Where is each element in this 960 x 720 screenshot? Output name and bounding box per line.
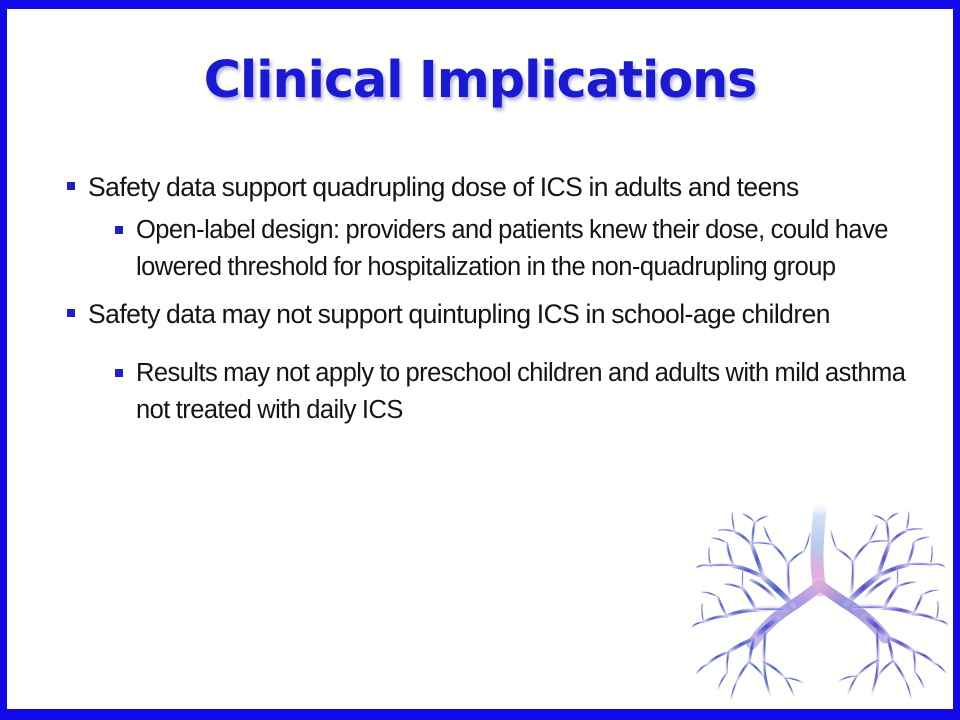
bullet-item-level1: Safety data may not support quintupling … bbox=[58, 295, 906, 333]
bullet-text: Results may not apply to preschool child… bbox=[136, 359, 905, 424]
bullet-square-icon bbox=[115, 369, 123, 377]
slide-border-bottom bbox=[0, 709, 960, 720]
bullet-text: Safety data may not support quintupling … bbox=[88, 299, 830, 329]
bullet-list: Safety data support quadrupling dose of … bbox=[58, 168, 906, 429]
bullet-square-icon bbox=[67, 309, 75, 317]
slide-border-left bbox=[0, 0, 7, 720]
bronchial-tree-lungs-icon bbox=[690, 498, 958, 710]
slide-title: Clinical Implications bbox=[0, 52, 960, 110]
slide-canvas: Clinical Implications Safety data suppor… bbox=[0, 0, 960, 720]
bullet-square-icon bbox=[115, 226, 123, 234]
bullet-item-level1: Safety data support quadrupling dose of … bbox=[58, 168, 906, 206]
bullet-text: Safety data support quadrupling dose of … bbox=[88, 172, 799, 202]
bullet-text: Open-label design: providers and patient… bbox=[136, 216, 888, 281]
bullet-item-level2: Open-label design: providers and patient… bbox=[58, 212, 906, 286]
slide-border-right bbox=[953, 0, 960, 720]
bullet-item-level2: Results may not apply to preschool child… bbox=[58, 355, 906, 429]
bullet-square-icon bbox=[67, 182, 75, 190]
slide-border-top bbox=[0, 0, 960, 9]
